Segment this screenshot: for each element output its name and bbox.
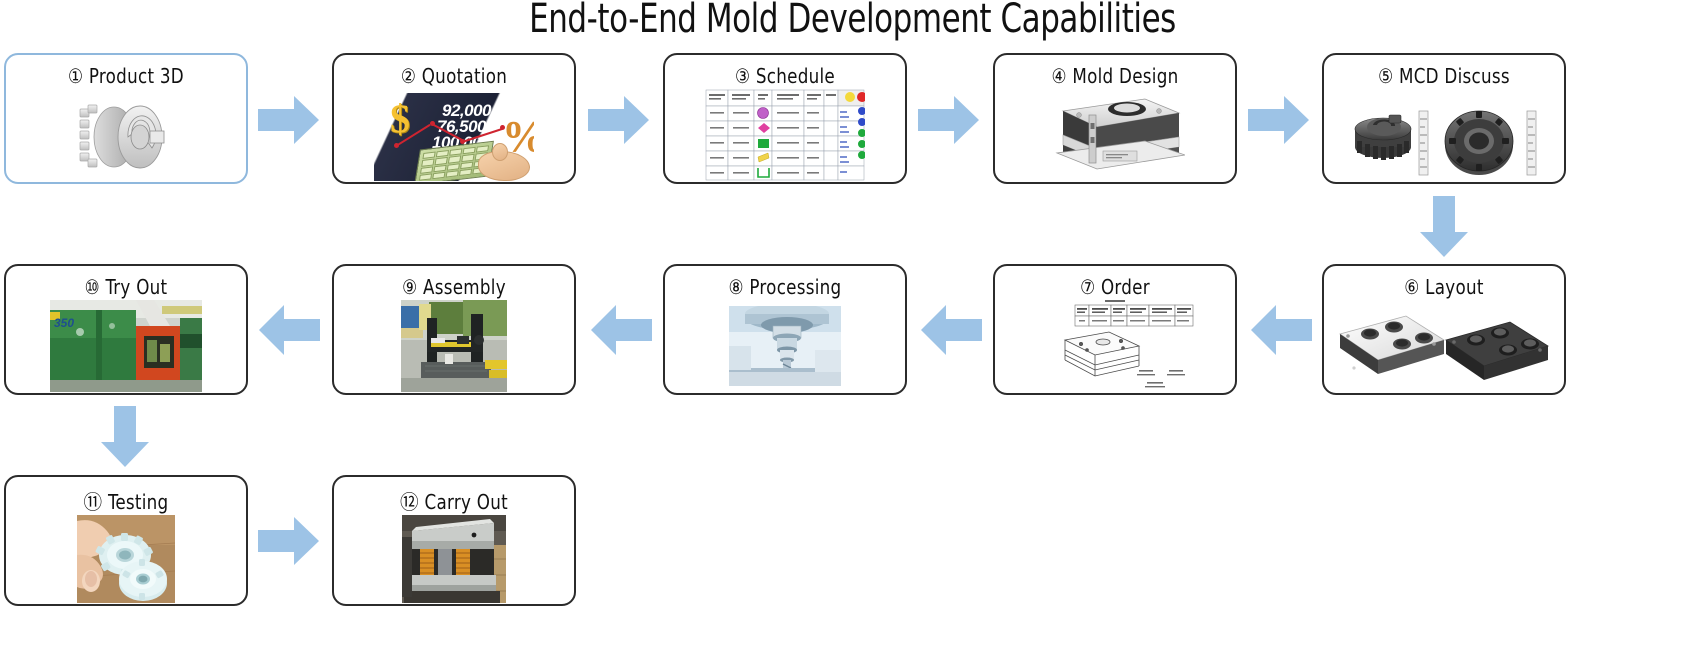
step-card-assembly[interactable]: ⑨ Assembly [332,264,576,395]
arrow-down-5-6 [1419,196,1469,258]
art-injection-molding-machine: 350 [50,300,202,392]
art-assembly-machine-photo [401,300,507,392]
art-mold-assembly-3d [1045,89,1185,181]
step-label-layout: ⑥ Layout [1332,275,1555,299]
arrow-left-8-9 [590,304,652,356]
step-card-product-3d[interactable]: ① Product 3D [4,53,248,184]
step-label-assembly: ⑨ Assembly [342,275,565,299]
page-title: End-to-End Mold Development Capabilities [119,0,1585,42]
step-card-schedule[interactable]: ③ Schedule [663,53,907,184]
step-label-testing: ⑪ Testing [14,486,237,515]
step-label-try-out: ⑩ Try Out [14,275,237,299]
step-card-carry-out[interactable]: ⑫ Carry Out [332,475,576,606]
art-gear-parts-with-scale [1349,89,1539,181]
art-calculator-pricing: 92,000 76,500 100,00 50,600 $ % [374,93,534,181]
arrow-right-1-2 [258,95,320,145]
svg-text:350: 350 [54,316,74,330]
flowchart-canvas: End-to-End Mold Development Capabilities… [0,0,1705,657]
step-card-processing[interactable]: ⑧ Processing [663,264,907,395]
arrow-right-3-4 [918,95,980,145]
arrow-right-11-12 [258,516,320,566]
step-card-mcd-discuss[interactable]: ⑤ MCD Discuss [1322,53,1566,184]
step-label-product-3d: ① Product 3D [14,64,237,88]
art-gear-3d-render [66,93,186,177]
arrow-left-7-8 [920,304,982,356]
step-card-testing[interactable]: ⑪ Testing [4,475,248,606]
art-order-document-sheet [1027,298,1203,392]
art-gantt-schedule-table [705,89,865,181]
step-card-order[interactable]: ⑦ Order [993,264,1237,395]
art-cnc-milling-spindle [729,306,841,386]
arrow-right-4-5 [1248,95,1310,145]
art-plastic-gears-in-hand [77,515,175,603]
step-label-quotation: ② Quotation [342,64,565,88]
step-label-processing: ⑧ Processing [673,275,896,299]
step-card-try-out[interactable]: ⑩ Try Out 350 [4,264,248,395]
step-card-quotation[interactable]: ② Quotation 92,000 76,500 100,00 50,600 … [332,53,576,184]
art-open-mold-shipping [402,515,506,603]
arrow-left-6-7 [1250,304,1312,356]
step-label-mold-design: ④ Mold Design [1003,64,1226,88]
art-mold-plates-cavities [1334,300,1554,392]
step-card-mold-design[interactable]: ④ Mold Design [993,53,1237,184]
step-label-schedule: ③ Schedule [673,64,896,88]
arrow-down-10-11 [100,406,150,468]
dollar-sign-icon: $ [390,95,410,142]
arrow-left-9-10 [258,304,320,356]
step-label-carry-out: ⑫ Carry Out [342,486,565,515]
step-label-order: ⑦ Order [1003,275,1226,299]
arrow-right-2-3 [588,95,650,145]
step-card-layout[interactable]: ⑥ Layout [1322,264,1566,395]
step-label-mcd-discuss: ⑤ MCD Discuss [1332,64,1555,88]
